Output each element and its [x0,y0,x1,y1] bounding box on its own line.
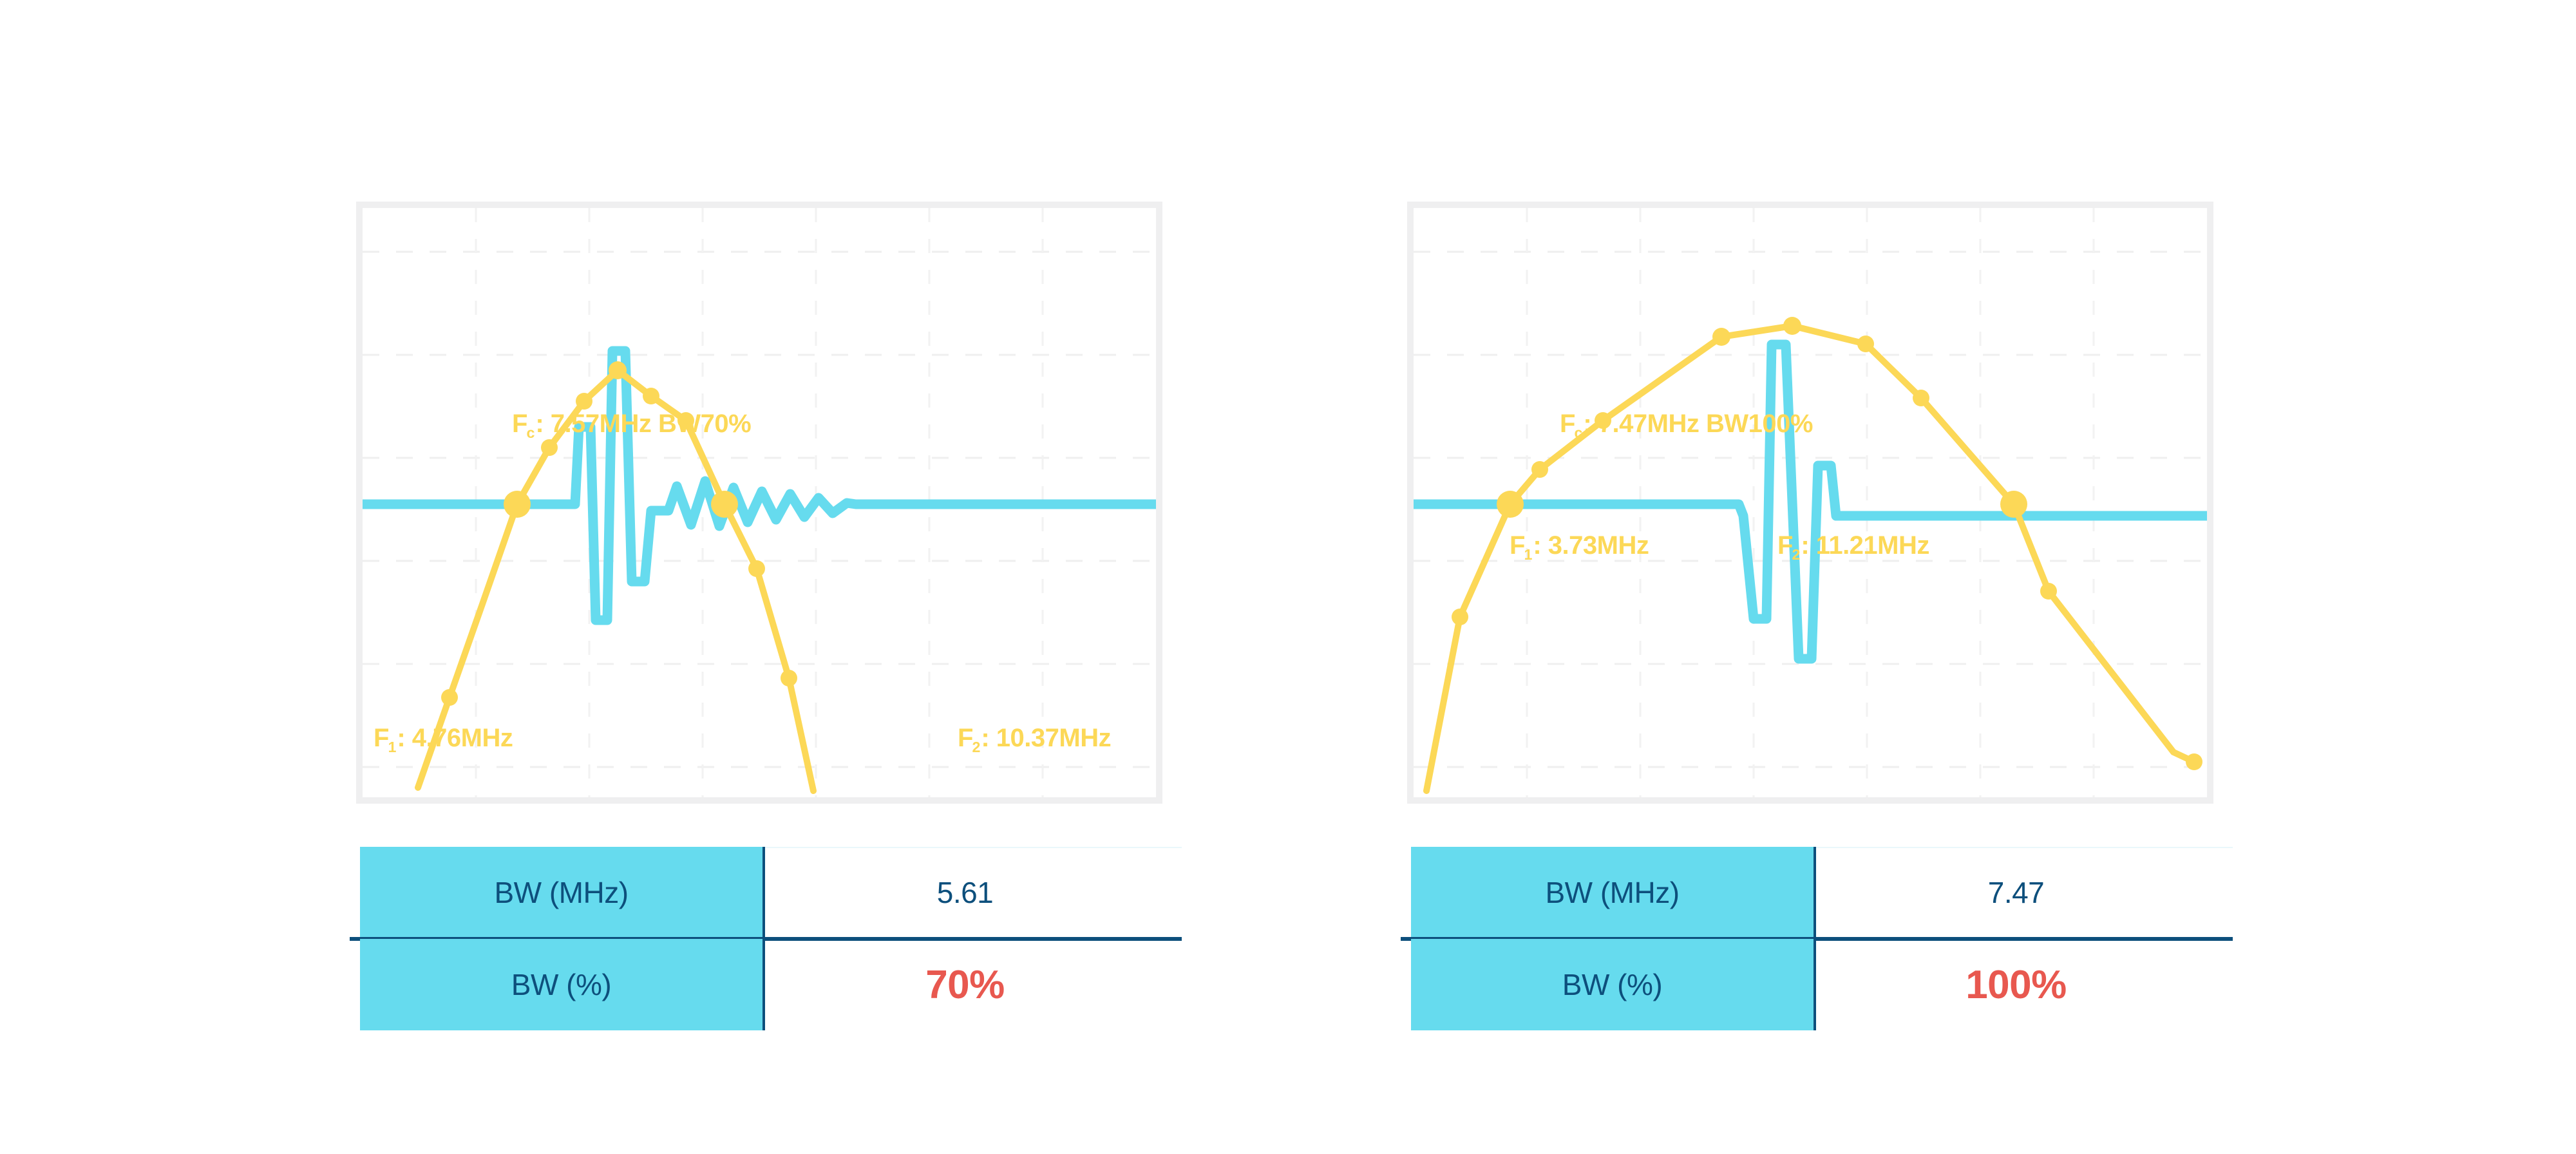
annotation-center-frequency-right: Fc: 7.47MHz BW100% [1560,411,1813,437]
gridlines-horizontal [363,252,1156,767]
annot-prefix: F [1560,410,1575,438]
bw-pct-value-cell: 100% [1816,939,2216,1030]
annot-text: : 11.21MHz [1801,531,1929,560]
annot-subscript: c [1575,424,1582,441]
chart-right [1414,208,2207,797]
annot-subscript: 2 [972,739,980,755]
annot-prefix: F [374,724,389,752]
bw-table-right: BW (MHz) 7.47 BW (%) 100% [1411,847,2216,1030]
bw-mhz-label-cell: BW (MHz) [1411,847,1816,938]
annotation-center-frequency-left: Fc: 7.57MHz BW70% [512,411,751,437]
table-row: BW (MHz) 7.47 [1411,847,2216,938]
annot-prefix: F [512,410,527,438]
bw-mhz-label: BW (MHz) [1545,875,1679,910]
chart-left [363,208,1156,797]
table-row: BW (%) 100% [1411,939,2216,1030]
annot-subscript: 1 [1524,546,1532,563]
bw-pct-label: BW (%) [511,967,611,1002]
annot-subscript: 2 [1792,546,1800,563]
bw-pct-label: BW (%) [1562,967,1662,1002]
bw-pct-label-cell: BW (%) [1411,939,1816,1030]
bw-mhz-label: BW (MHz) [494,875,628,910]
annotation-f1-right: F1: 3.73MHz [1510,533,1649,558]
chart-frame-right [1407,202,2213,804]
panel-right: Fc: 7.47MHz BW100% F1: 3.73MHz F2: 11.21… [1051,0,2339,1154]
annot-prefix: F [1777,531,1793,560]
annot-subscript: 1 [388,739,396,755]
annot-prefix: F [1510,531,1525,560]
annotation-f1-left: F1: 4.76MHz [374,725,513,751]
table-row: BW (%) 70% [360,939,1165,1030]
bw-pct-value: 100% [1965,962,2067,1008]
chart-frame-left [356,202,1162,804]
annot-text: : 3.73MHz [1533,531,1649,560]
bw-mhz-value: 7.47 [1988,875,2045,910]
annot-text: : 7.57MHz BW70% [535,410,751,438]
annot-text: : 4.76MHz [397,724,513,752]
bw-table-left: BW (MHz) 5.61 BW (%) 70% [360,847,1165,1030]
bw-pct-value: 70% [925,962,1005,1008]
bw-mhz-value: 5.61 [937,875,994,910]
bw-mhz-label-cell: BW (MHz) [360,847,765,938]
annot-text: : 7.47MHz BW100% [1583,410,1813,438]
pulse-waveform-right [1414,345,2207,659]
annotation-f2-right: F2: 11.21MHz [1777,533,1929,558]
annot-subscript: c [527,424,535,441]
table-row: BW (MHz) 5.61 [360,847,1165,938]
bw-pct-label-cell: BW (%) [360,939,765,1030]
bw-mhz-value-cell: 7.47 [1816,847,2216,938]
annot-prefix: F [958,724,973,752]
